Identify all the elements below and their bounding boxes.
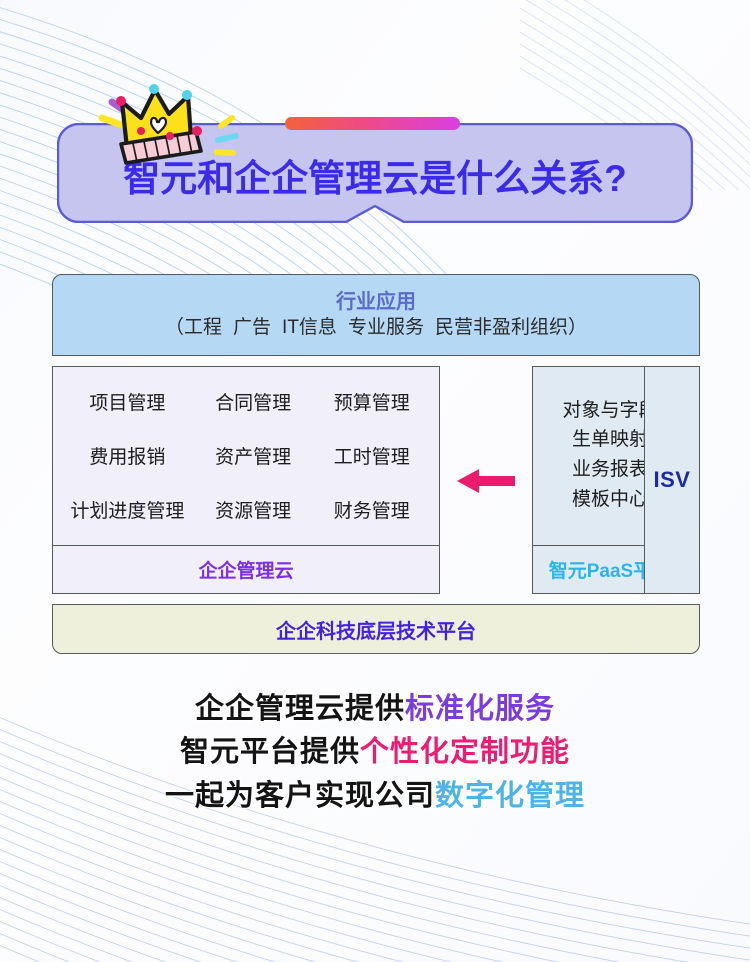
tagline-1-plain: 企企管理云提供	[195, 693, 405, 725]
isv-panel: ISV	[644, 366, 700, 594]
segment-nonprofit: 民营非盈利组织	[435, 317, 568, 338]
module-project-management[interactable]: 项目管理	[89, 394, 165, 415]
paas-item-business-report[interactable]: 业务报表	[572, 457, 648, 483]
tagline-section: 企企管理云提供标准化服务 智元平台提供个性化定制功能 一起为客户实现公司数字化管…	[0, 692, 750, 814]
paas-item-template-center[interactable]: 模板中心	[572, 487, 648, 513]
infographic-page: 智元和企企管理云是什么关系?	[0, 0, 750, 962]
paren-close: ）	[568, 317, 587, 338]
header-section: 智元和企企管理云是什么关系?	[0, 0, 750, 262]
industry-application-bar: 行业应用 （工程广告IT信息专业服务民营非盈利组织）	[52, 274, 700, 356]
paren-open: （	[165, 317, 184, 338]
module-timesheet-management[interactable]: 工时管理	[334, 448, 410, 469]
tagline-2-highlight: 个性化定制功能	[360, 736, 570, 768]
qiqi-module-grid: 项目管理 合同管理 预算管理 费用报销 资产管理 工时管理 计划进度管理 资源管…	[53, 367, 439, 545]
left-arrow-icon	[455, 468, 517, 494]
segment-engineering: 工程	[184, 317, 222, 338]
tagline-line-1: 企企管理云提供标准化服务	[195, 692, 555, 727]
industry-application-title: 行业应用	[336, 290, 416, 314]
tagline-2-plain: 智元平台提供	[180, 736, 360, 768]
flow-arrow	[444, 466, 528, 496]
module-finance-management[interactable]: 财务管理	[334, 502, 410, 523]
module-budget-management[interactable]: 预算管理	[334, 394, 410, 415]
tagline-3-plain: 一起为客户实现公司	[165, 780, 435, 812]
qiqi-cloud-panel: 项目管理 合同管理 预算管理 费用报销 资产管理 工时管理 计划进度管理 资源管…	[52, 366, 440, 594]
segment-professional-services: 专业服务	[348, 317, 424, 338]
industry-application-segments: （工程广告IT信息专业服务民营非盈利组织）	[165, 316, 587, 341]
module-contract-management[interactable]: 合同管理	[215, 394, 291, 415]
module-plan-schedule-management[interactable]: 计划进度管理	[70, 502, 184, 523]
module-expense-reimbursement[interactable]: 费用报销	[89, 448, 165, 469]
architecture-diagram: 行业应用 （工程广告IT信息专业服务民营非盈利组织） 项目管理 合同管理 预算管…	[52, 274, 700, 659]
segment-it: IT信息	[282, 317, 337, 338]
tagline-1-highlight: 标准化服务	[405, 693, 555, 725]
crown-icon	[96, 74, 241, 166]
tagline-line-3: 一起为客户实现公司数字化管理	[165, 779, 585, 814]
qiqi-cloud-label: 企企管理云	[53, 545, 439, 593]
tagline-line-2: 智元平台提供个性化定制功能	[180, 735, 570, 770]
module-asset-management[interactable]: 资产管理	[215, 448, 291, 469]
tagline-3-highlight: 数字化管理	[435, 780, 585, 812]
gradient-accent-bar	[285, 117, 460, 130]
paas-item-order-mapping[interactable]: 生单映射	[572, 427, 648, 453]
module-resource-management[interactable]: 资源管理	[215, 502, 291, 523]
base-technology-platform-bar: 企企科技底层技术平台	[52, 604, 700, 654]
segment-advertising: 广告	[233, 317, 271, 338]
